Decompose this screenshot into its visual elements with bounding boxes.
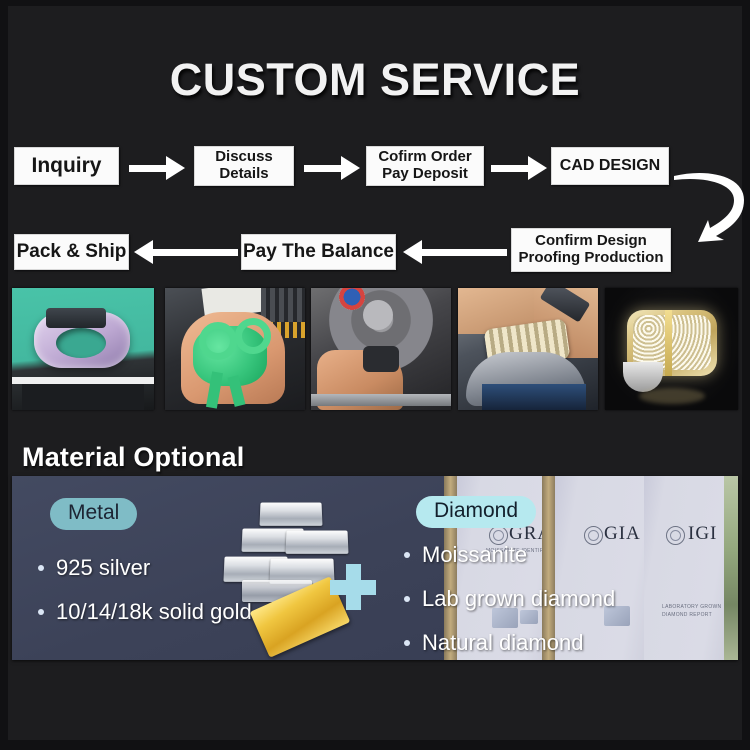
material-optional-heading: Material Optional (22, 442, 244, 473)
arrow-right-icon-1 (129, 156, 185, 180)
stone-setting-photo (458, 288, 598, 410)
flow-step-inquiry[interactable]: Inquiry (14, 147, 119, 185)
flow-step-confirm-design[interactable]: Confirm Design Proofing Production (511, 228, 671, 272)
arrow-left-icon-2 (403, 240, 507, 264)
diamond-bullet-list: Moissanite Lab grown diamond Natural dia… (402, 542, 615, 660)
casting-grinding-photo (311, 288, 451, 410)
flow-step-discuss-details-line1: Discuss (215, 149, 273, 166)
flow-step-discuss-details-line2: Details (219, 166, 268, 183)
process-photo-strip (8, 288, 742, 410)
flow-step-confirm-order[interactable]: Cofirm Order Pay Deposit (366, 146, 484, 186)
igi-certificate-sub: LABORATORY GROWN DIAMOND REPORT (662, 604, 726, 619)
flow-step-confirm-design-line2: Proofing Production (519, 250, 664, 267)
list-item: Lab grown diamond (402, 586, 615, 612)
igi-certificate-label: IGI (688, 523, 717, 545)
custom-service-infographic: CUSTOM SERVICE Inquiry Discuss Details C… (0, 0, 750, 750)
wax-resin-print-photo (165, 288, 305, 410)
list-item: Moissanite (402, 542, 615, 568)
flow-step-pay-balance-label: Pay The Balance (243, 241, 394, 262)
flow-step-pack-ship[interactable]: Pack & Ship (14, 234, 129, 270)
flow-step-discuss-details[interactable]: Discuss Details (194, 146, 294, 186)
flow-step-cad-design[interactable]: CAD DESIGN (551, 147, 669, 185)
flow-step-inquiry-label: Inquiry (31, 154, 101, 178)
flow-step-confirm-design-line1: Confirm Design (535, 233, 647, 250)
finished-ring-photo (605, 288, 738, 410)
list-item: Natural diamond (402, 630, 615, 656)
arrow-right-icon-2 (304, 156, 360, 180)
process-flow-chart: Inquiry Discuss Details Cofirm Order Pay… (8, 6, 742, 276)
flow-step-cad-design-label: CAD DESIGN (560, 157, 660, 175)
flow-step-pack-ship-label: Pack & Ship (17, 241, 127, 262)
arrow-right-icon-3 (491, 156, 547, 180)
igi-certificate: IGI LABORATORY GROWN DIAMOND REPORT (644, 476, 738, 660)
material-panel: Metal 925 silver 10/14/18k solid gold GR… (12, 476, 738, 660)
arrow-left-icon-1 (134, 240, 238, 264)
metal-badge: Metal (50, 498, 137, 530)
plus-icon (330, 564, 376, 610)
curved-arrow-down-icon (668, 166, 750, 246)
flow-step-confirm-order-line1: Cofirm Order (378, 149, 471, 166)
flow-step-pay-balance[interactable]: Pay The Balance (241, 234, 396, 270)
cad-design-screen-photo (12, 288, 154, 410)
flow-step-confirm-order-line2: Pay Deposit (382, 166, 468, 183)
diamond-badge: Diamond (416, 496, 536, 528)
